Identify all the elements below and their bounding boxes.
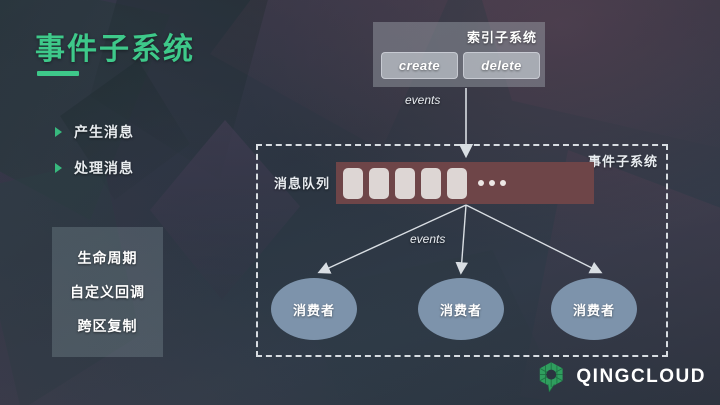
feature-panel: 生命周期 自定义回调 跨区复制	[52, 227, 163, 357]
bullet-label: 产生消息	[74, 122, 134, 142]
feature-item-callback: 自定义回调	[70, 282, 145, 302]
bullet-item-consume: 处理消息	[55, 158, 134, 178]
queue-slot	[369, 168, 389, 199]
queue-slot	[343, 168, 363, 199]
index-subsystem-title: 索引子系统	[467, 27, 537, 46]
feature-item-replication: 跨区复制	[78, 316, 138, 336]
bullet-label: 处理消息	[74, 158, 134, 178]
queue-slot	[447, 168, 467, 199]
queue-overflow-ellipsis-icon	[478, 180, 511, 186]
message-queue-bar	[336, 162, 594, 204]
create-button[interactable]: create	[381, 52, 458, 79]
consumer-node: 消费者	[551, 278, 637, 340]
slide-canvas: 事件子系统 产生消息 处理消息 生命周期 自定义回调 跨区复制 索引子系统 cr…	[0, 0, 720, 405]
bullet-item-produce: 产生消息	[55, 122, 134, 142]
triangle-bullet-icon	[55, 163, 62, 173]
brand-name: QINGCLOUD	[576, 366, 706, 388]
consumer-node: 消费者	[418, 278, 504, 340]
qingcloud-mark-icon	[537, 361, 567, 393]
triangle-bullet-icon	[55, 127, 62, 137]
message-queue-label: 消息队列	[274, 173, 330, 192]
consumer-node: 消费者	[271, 278, 357, 340]
brand-logo: QINGCLOUD	[537, 361, 706, 393]
queue-slot	[395, 168, 415, 199]
edge-label-events-top: events	[405, 93, 440, 107]
title-underline	[37, 71, 79, 76]
slide-title: 事件子系统	[35, 24, 195, 68]
index-subsystem-box: 索引子系统 create delete	[373, 22, 545, 87]
feature-item-lifecycle: 生命周期	[78, 248, 138, 268]
queue-slot	[421, 168, 441, 199]
delete-button[interactable]: delete	[463, 52, 540, 79]
event-subsystem-title: 事件子系统	[588, 151, 658, 170]
